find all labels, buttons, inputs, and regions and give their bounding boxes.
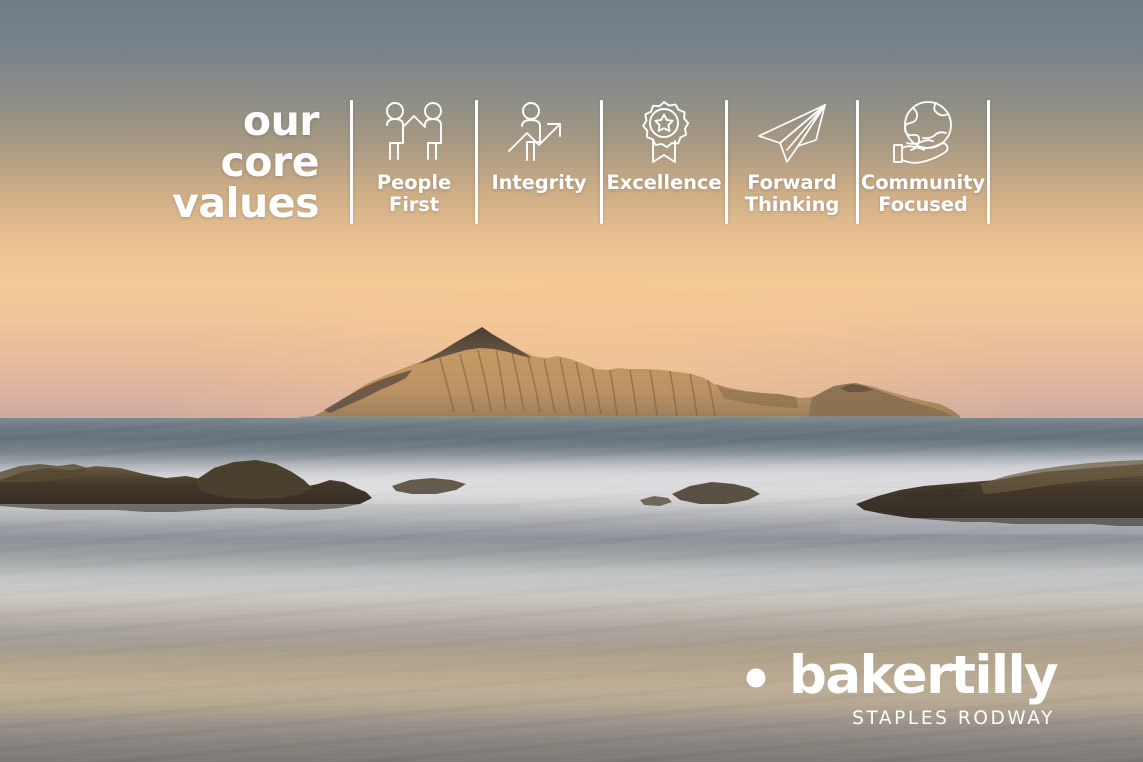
headline-line-2: core [0, 142, 319, 183]
hand-holding-globe-icon [888, 96, 958, 168]
value-item-forward-thinking: Forward Thinking [728, 96, 856, 228]
value-label: Integrity [491, 172, 586, 194]
value-item-people-first: People First [353, 96, 475, 228]
core-values-banner: our core values People First [0, 0, 1143, 762]
logo-wordmark: bakertilly [789, 649, 1057, 702]
award-rosette-star-icon [632, 96, 696, 168]
value-label: People First [377, 172, 451, 216]
foreground-rocks [0, 400, 1143, 640]
value-item-community-focused: Community Focused [859, 96, 987, 228]
paper-plane-icon [754, 96, 830, 168]
value-label: Excellence [607, 172, 722, 194]
value-item-integrity: Integrity [478, 96, 600, 228]
value-label: Forward Thinking [745, 172, 839, 216]
headline-line-1: our [0, 101, 319, 142]
page-title: our core values [0, 96, 322, 228]
value-item-excellence: Excellence [603, 96, 725, 228]
bakertilly-spiral-mark-icon [721, 648, 775, 702]
headline-line-3: values [0, 183, 319, 224]
logo-subtitle: STAPLES RODWAY [852, 708, 1055, 729]
value-label: Community Focused [861, 172, 985, 216]
people-high-five-icon [378, 96, 450, 168]
core-values-strip: our core values People First [0, 96, 1143, 228]
brand-logo: bakertilly STAPLES RODWAY [721, 648, 1057, 729]
person-growth-arrow-icon [505, 96, 573, 168]
